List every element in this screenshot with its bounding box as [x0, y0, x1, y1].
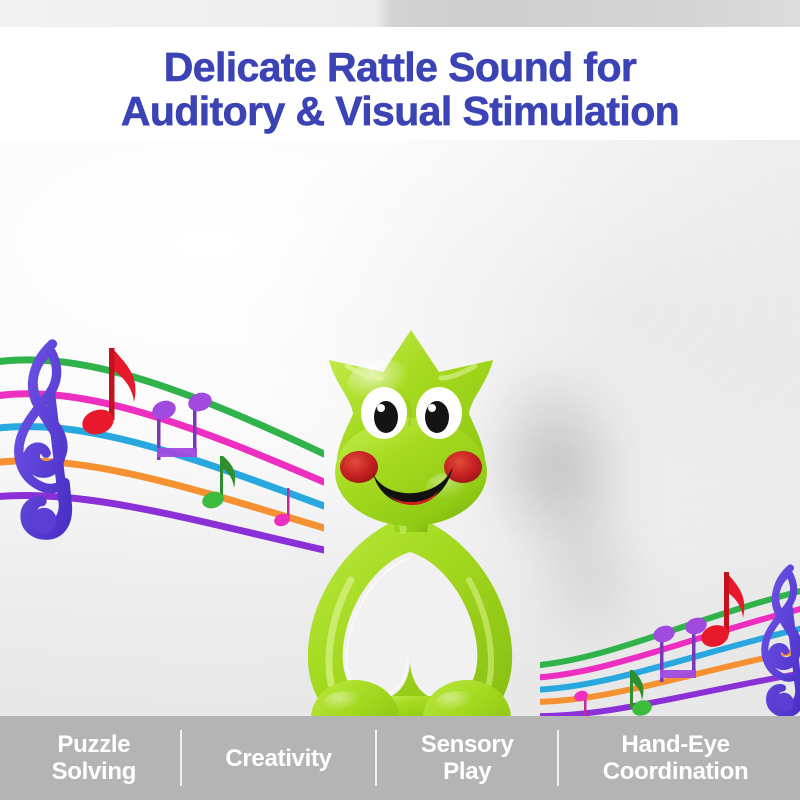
product-feature-image: Delicate Rattle Sound for Auditory & Vis… — [0, 0, 800, 800]
feature-puzzle-solving: Puzzle Solving — [8, 731, 180, 785]
product-photo-stage — [0, 140, 800, 716]
treble-clef-icon — [765, 568, 800, 714]
treble-clef-icon — [19, 344, 68, 535]
red-eighth-note — [79, 348, 135, 438]
feature-sensory-play: Sensory Play — [377, 731, 557, 785]
headline-band: Delicate Rattle Sound for Auditory & Vis… — [0, 27, 800, 140]
left-cheek — [340, 451, 378, 483]
feature-benefits-bar: Puzzle Solving Creativity Sensory Play H… — [0, 716, 800, 800]
feature-creativity: Creativity — [182, 745, 376, 772]
purple-beamed-pair — [150, 390, 214, 460]
right-cheek — [444, 451, 482, 483]
feature-hand-eye-coordination: Hand-Eye Coordination — [559, 731, 792, 785]
baby-rattle-toy — [255, 160, 565, 716]
red-eighth-note — [698, 572, 744, 650]
green-eighth-note — [200, 456, 235, 511]
top-gray-strip — [0, 0, 800, 27]
left-eye — [361, 387, 407, 439]
right-eye — [416, 387, 462, 439]
page-headline: Delicate Rattle Sound for Auditory & Vis… — [0, 45, 800, 133]
